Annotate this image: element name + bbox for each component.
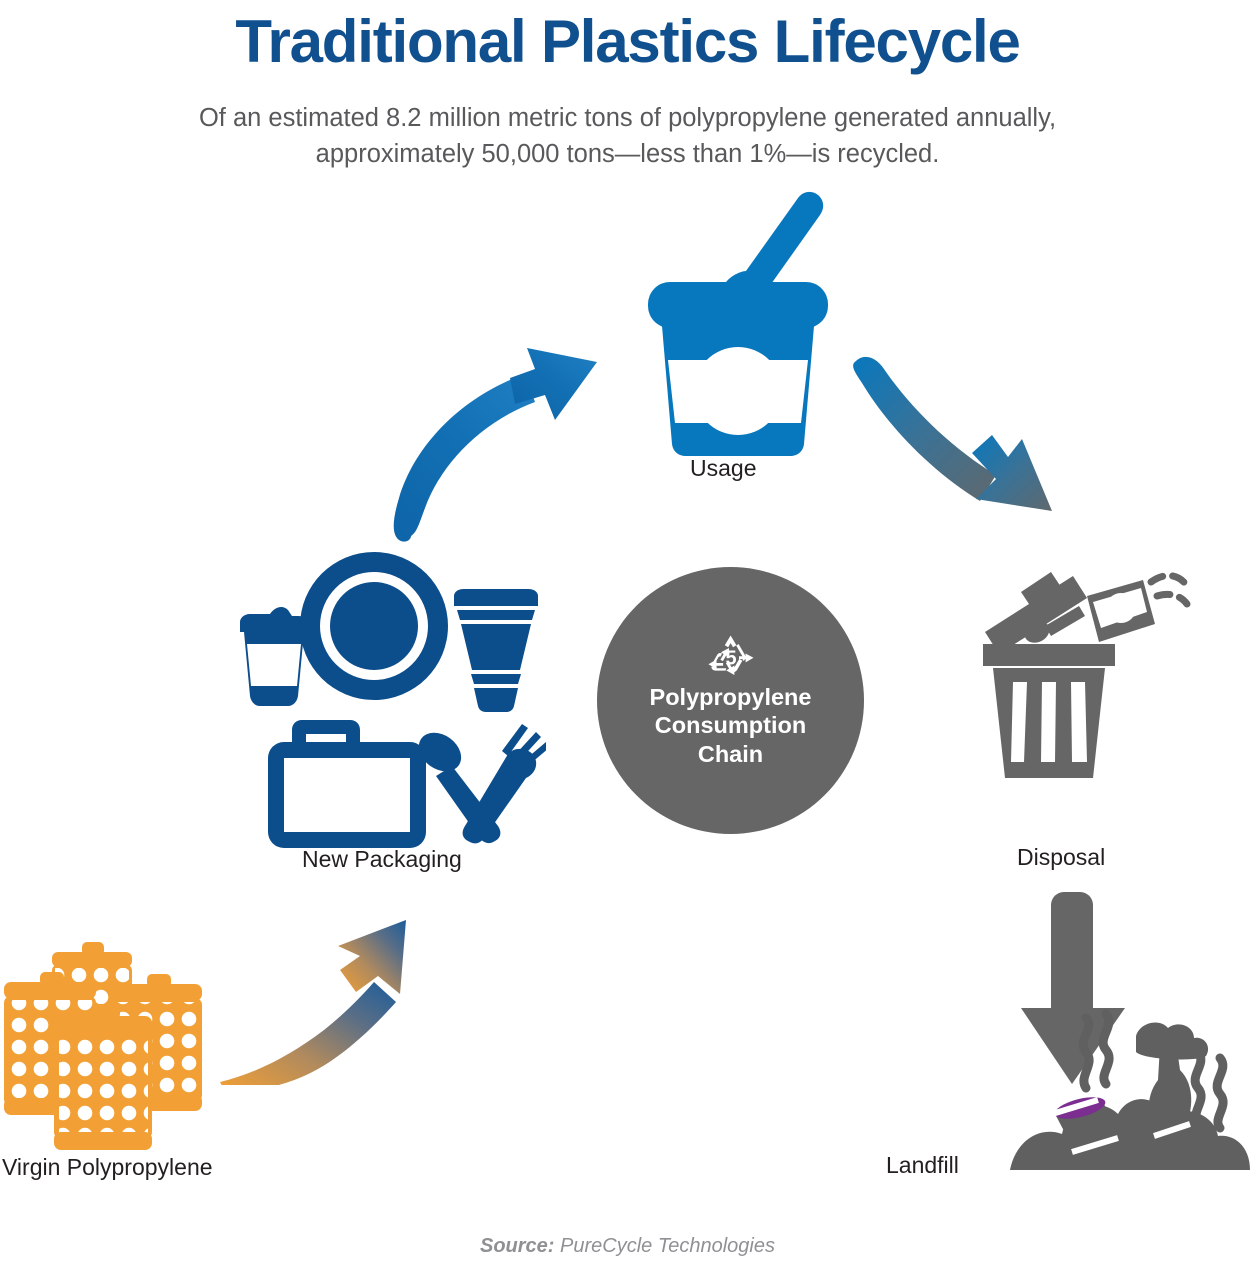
svg-text:5: 5 [725,647,736,669]
source-credit: Source: PureCycle Technologies [0,1235,1255,1258]
hub-line-2: Consumption [650,711,812,740]
page-subtitle: Of an estimated 8.2 million metric tons … [120,100,1135,172]
landfill-pile-icon [1010,1000,1250,1175]
arrow-new-packaging-to-usage [385,340,650,545]
stage-label-disposal: Disposal [1017,844,1105,871]
source-label: Source: [480,1235,554,1257]
stage-label-landfill: Landfill [886,1152,959,1179]
source-value: PureCycle Technologies [560,1235,775,1257]
arrow-usage-to-disposal [840,335,1090,535]
recycling-symbol-icon: 5 [704,633,758,679]
page-title: Traditional Plastics Lifecycle [0,8,1255,75]
arrow-virgin-to-new-packaging [220,890,455,1085]
infographic-canvas: Traditional Plastics Lifecycle Of an est… [0,0,1255,1280]
plastic-pellet-crates-icon [2,920,252,1155]
hub-line-1: Polypropylene [650,683,812,712]
trash-can-icon [975,556,1195,846]
stage-label-new-packaging: New Packaging [302,846,462,873]
hub-line-3: Chain [650,740,812,769]
stage-label-usage: Usage [690,455,756,482]
center-hub: 5 Polypropylene Consumption Chain [597,567,864,834]
tableware-packaging-icon [226,548,546,848]
stage-label-virgin: Virgin Polypropylene [2,1154,213,1181]
yogurt-cup-with-spoon-icon [636,186,866,456]
